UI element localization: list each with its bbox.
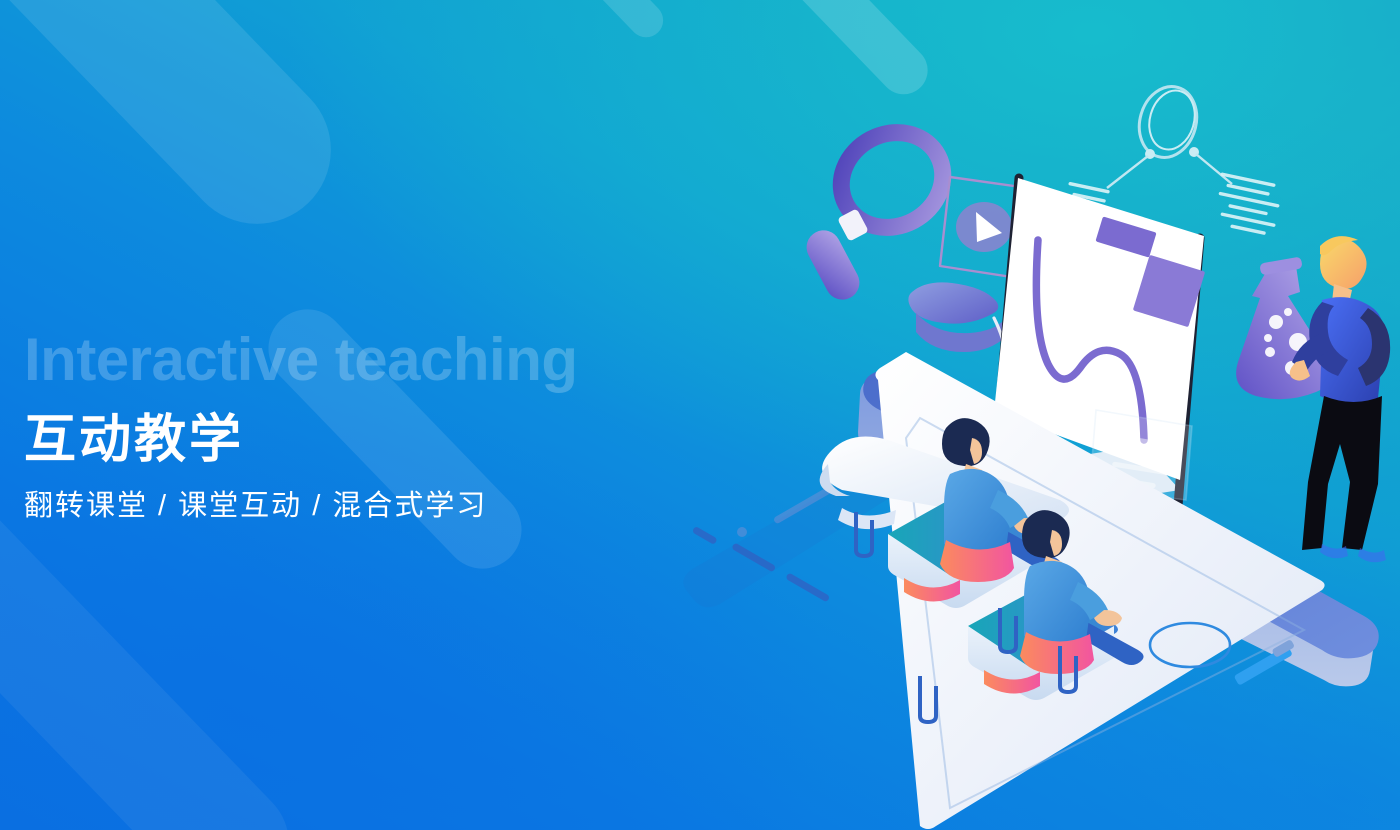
headline-english: Interactive teaching [24, 330, 784, 390]
magnifier-icon [801, 115, 960, 306]
subheadline: 翻转课堂 / 课堂互动 / 混合式学习 [24, 492, 784, 521]
graduation-cap-icon [908, 282, 1012, 369]
headline-chinese: 互动教学 [24, 414, 784, 466]
interactive-teaching-banner: Interactive teaching 互动教学 翻转课堂 / 课堂互动 / … [0, 0, 1400, 830]
capsule-bottom-left [0, 471, 314, 830]
copy-block: Interactive teaching 互动教学 翻转课堂 / 课堂互动 / … [24, 330, 784, 521]
capsule-top-left-large [0, 0, 361, 254]
capsule-top-left-small [500, 0, 670, 44]
teacher-figure [1290, 236, 1390, 562]
